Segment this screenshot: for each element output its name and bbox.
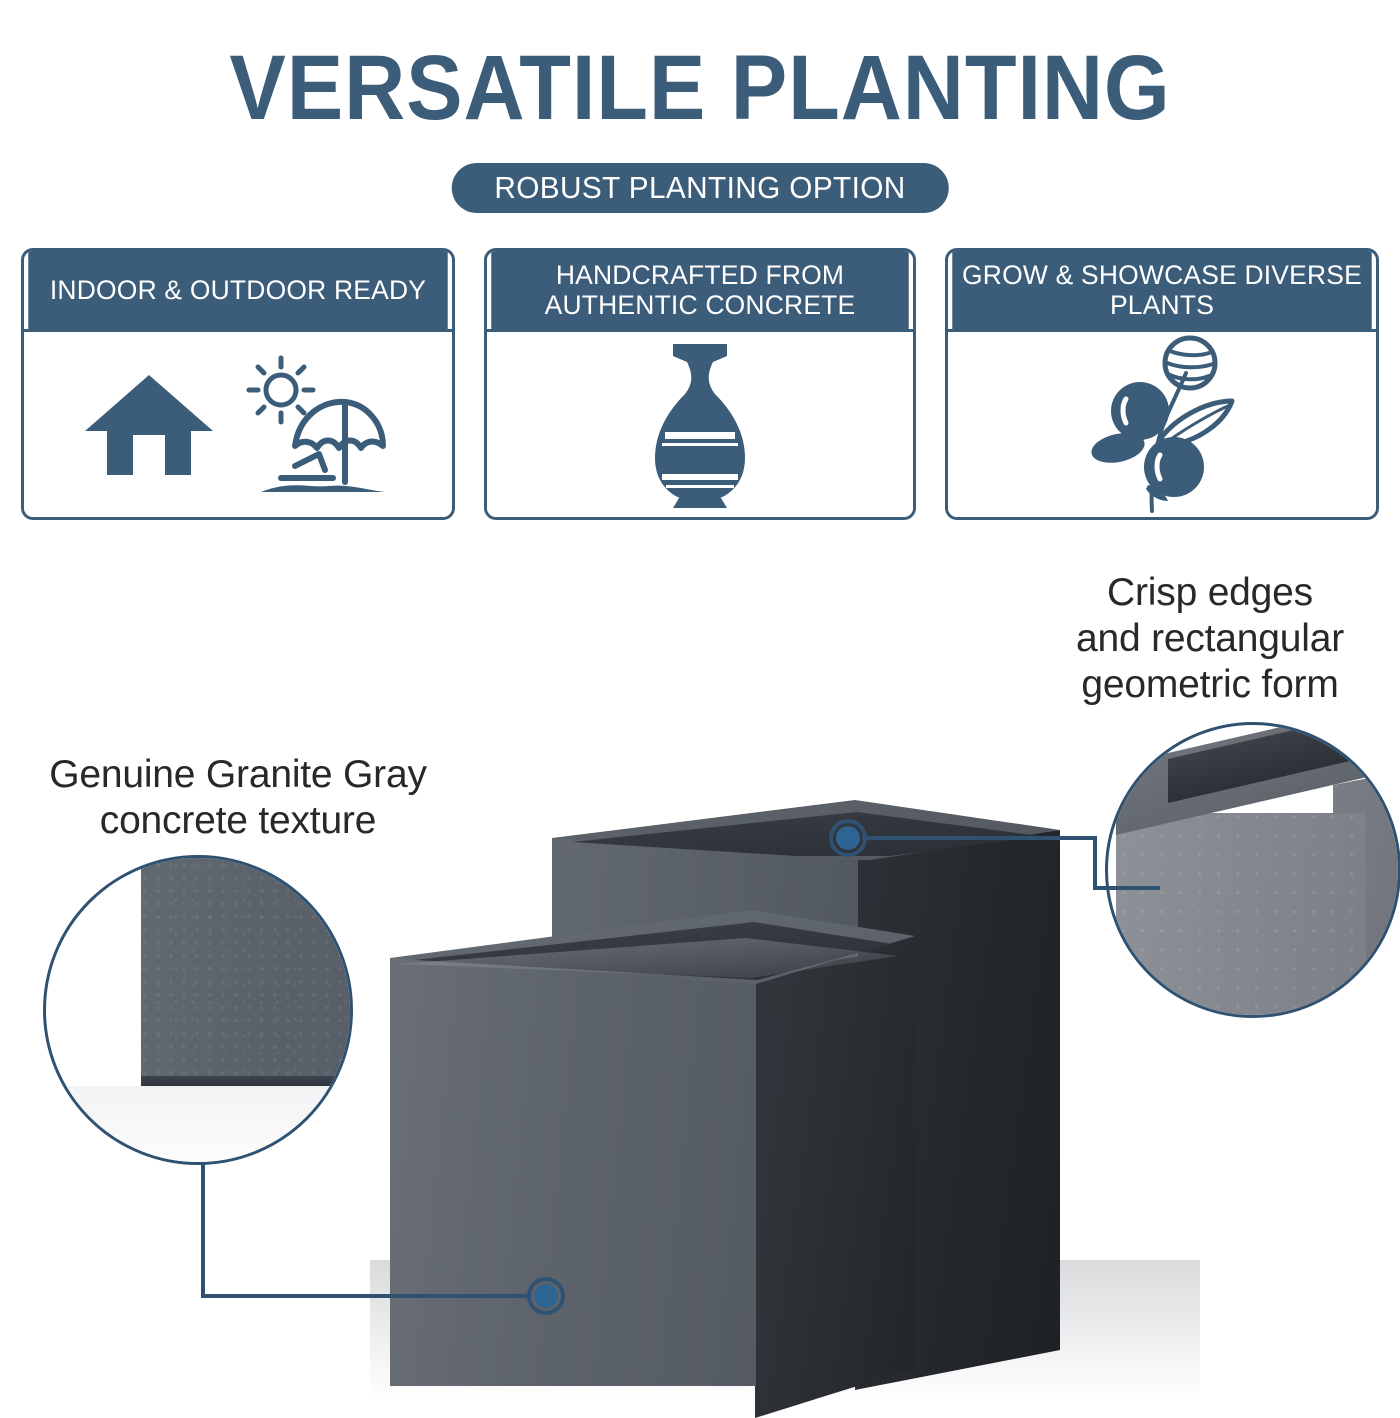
zoom-circle-planter-corner: [1105, 722, 1400, 1018]
house-icon: [83, 369, 215, 481]
sun-icon: [249, 358, 313, 422]
vase-icon: [635, 340, 765, 510]
feature-card-handcrafted-concrete[interactable]: HANDCRAFTED FROM AUTHENTIC CONCRETE: [484, 248, 916, 520]
feature-card-row: INDOOR & OUTDOOR READY: [0, 248, 1400, 524]
front-planter-side-face: [755, 948, 915, 1418]
feature-card-diverse-plants[interactable]: GROW & SHOWCASE DIVERSE PLANTS: [945, 248, 1379, 520]
feature-card-title: GROW & SHOWCASE DIVERSE PLANTS: [952, 251, 1371, 329]
beach-umbrella-icon: [233, 350, 393, 500]
callout-line: geometric form: [1030, 662, 1390, 708]
callout-line: Crisp edges: [1030, 570, 1390, 616]
subtitle-badge-label: ROBUST PLANTING OPTION: [494, 170, 905, 206]
zoom-left-floor: [46, 1086, 353, 1165]
callout-label-crisp-edges: Crisp edges and rectangular geometric fo…: [1030, 570, 1390, 708]
feature-card-title: HANDCRAFTED FROM AUTHENTIC CONCRETE: [491, 251, 908, 329]
callout-line: and rectangular: [1030, 616, 1390, 662]
feature-card-icons: [948, 329, 1376, 517]
feature-card-title: INDOOR & OUTDOOR READY: [28, 251, 447, 329]
front-planter-front-face: [390, 958, 756, 1386]
page-title: VERSATILE PLANTING: [56, 42, 1344, 134]
zoom-left-slab-base: [141, 1076, 353, 1086]
subtitle-badge: ROBUST PLANTING OPTION: [452, 163, 949, 213]
zoom-circle-concrete-texture: [43, 855, 353, 1165]
berry-sprig-icon: [1082, 335, 1242, 515]
zoom-right-front-face: [1116, 813, 1366, 1018]
zoom-left-concrete-slab: [141, 855, 353, 1078]
feature-card-icons: [24, 329, 452, 517]
feature-card-icons: [487, 329, 913, 517]
feature-card-indoor-outdoor[interactable]: INDOOR & OUTDOOR READY: [21, 248, 455, 520]
